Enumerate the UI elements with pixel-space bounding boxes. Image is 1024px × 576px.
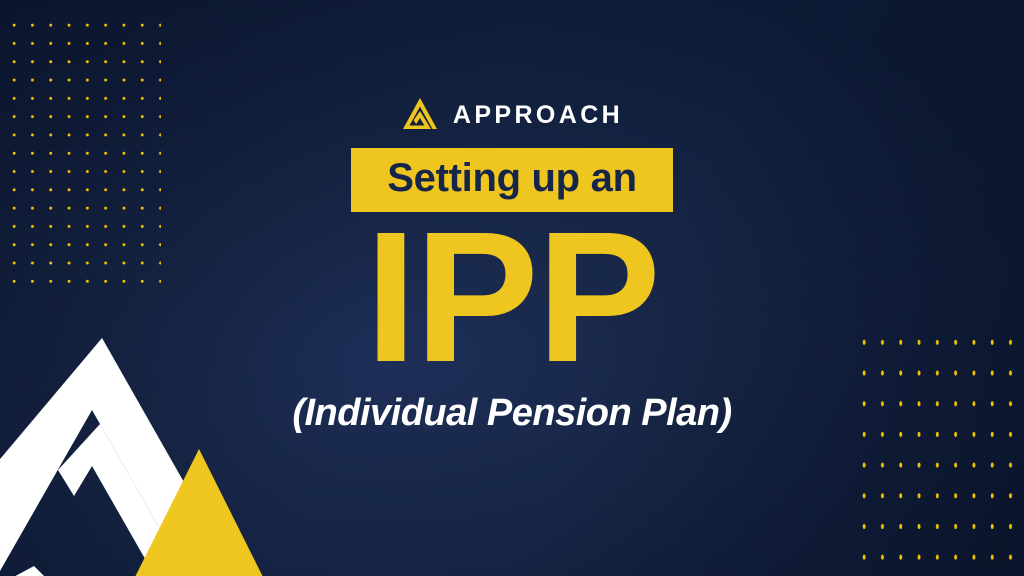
headline-stack: Setting up an IPP (Individual Pension Pl… (0, 148, 1024, 435)
page-title: IPP (365, 220, 659, 376)
brand-wordmark: APPROACH (453, 103, 623, 128)
approach-triangle-logo-icon (401, 96, 439, 134)
page-subtitle: (Individual Pension Plan) (292, 392, 731, 435)
presentation-slide: APPROACH Setting up an IPP (Individual P… (0, 0, 1024, 576)
yellow-triangle-shape (135, 449, 263, 576)
brand-lockup: APPROACH (0, 96, 1024, 134)
